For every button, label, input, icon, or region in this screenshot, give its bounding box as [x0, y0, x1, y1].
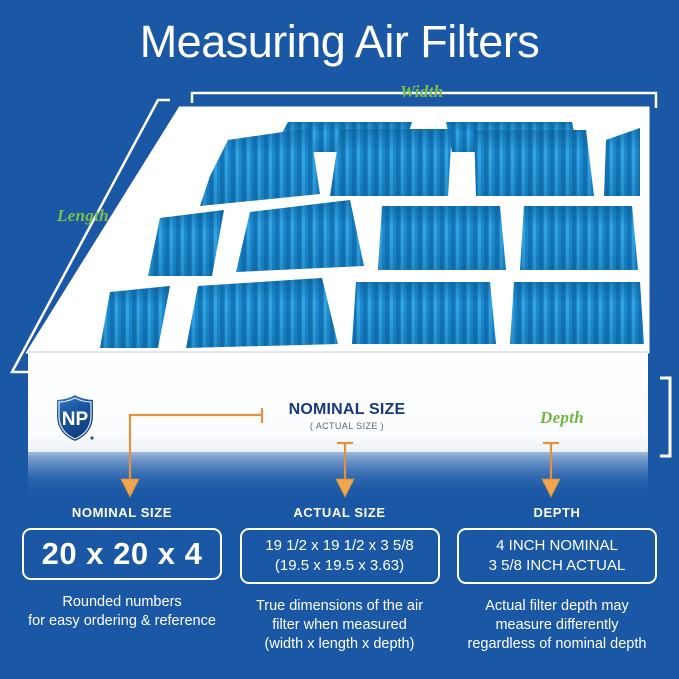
summary-cards: NOMINAL SIZE 20 x 20 x 4 Rounded numbers… — [0, 505, 679, 654]
card-value-box: 20 x 20 x 4 — [22, 528, 222, 580]
caption-line: (width x length x depth) — [240, 635, 440, 654]
nominal-size-callout: NOMINAL SIZE ( ACTUAL SIZE ) — [272, 401, 422, 431]
caption-line: measure differently — [457, 616, 657, 635]
card-title: NOMINAL SIZE — [22, 505, 222, 520]
caption-line: True dimensions of the air — [240, 597, 440, 616]
caption-line: filter when measured — [240, 616, 440, 635]
callout-primary-text: NOMINAL SIZE — [272, 401, 422, 419]
card-title: ACTUAL SIZE — [240, 505, 440, 520]
card-value-line: 20 x 20 x 4 — [42, 536, 203, 572]
depth-label: Depth — [540, 408, 584, 428]
card-nominal-size: NOMINAL SIZE 20 x 20 x 4 Rounded numbers… — [22, 505, 222, 654]
card-value-box: 19 1/2 x 19 1/2 x 3 5/8 (19.5 x 19.5 x 3… — [240, 528, 440, 584]
caption-line: for easy ordering & reference — [22, 612, 222, 631]
caption-line: regardless of nominal depth — [457, 635, 657, 654]
card-value-box: 4 INCH NOMINAL 3 5/8 INCH ACTUAL — [457, 528, 657, 584]
card-title: DEPTH — [457, 505, 657, 520]
length-label: Length — [57, 206, 109, 226]
card-value-line: 19 1/2 x 19 1/2 x 3 5/8 — [265, 536, 413, 556]
card-value-line: 4 INCH NOMINAL — [496, 536, 618, 556]
card-caption: Rounded numbers for easy ordering & refe… — [22, 593, 222, 631]
card-caption: True dimensions of the air filter when m… — [240, 597, 440, 654]
filter-reflection — [28, 452, 648, 500]
np-shield-logo: NP — [52, 392, 98, 444]
card-actual-size: ACTUAL SIZE 19 1/2 x 19 1/2 x 3 5/8 (19.… — [240, 505, 440, 654]
infographic-page: Measuring Air Filters — [0, 0, 679, 679]
card-value-line: (19.5 x 19.5 x 3.63) — [275, 556, 404, 576]
registered-mark-icon — [90, 436, 93, 439]
width-label: Width — [400, 82, 443, 102]
caption-line: Actual filter depth may — [457, 597, 657, 616]
card-depth: DEPTH 4 INCH NOMINAL 3 5/8 INCH ACTUAL A… — [457, 505, 657, 654]
callout-secondary-text: ( ACTUAL SIZE ) — [272, 421, 422, 431]
depth-bracket — [660, 378, 670, 456]
card-caption: Actual filter depth may measure differen… — [457, 597, 657, 654]
card-value-line: 3 5/8 INCH ACTUAL — [489, 556, 626, 576]
logo-text: NP — [62, 409, 89, 430]
caption-line: Rounded numbers — [22, 593, 222, 612]
